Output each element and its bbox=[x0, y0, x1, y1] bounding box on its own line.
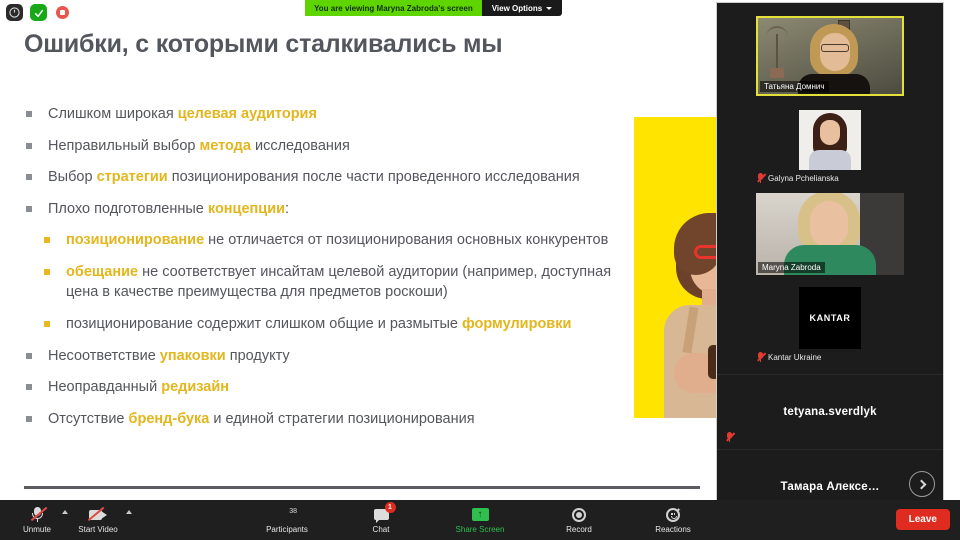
participant-label: Galyna Pchelianska bbox=[717, 173, 943, 183]
bullet-text: Плохо подготовленные концепции: bbox=[48, 199, 289, 220]
meeting-toolbar: Unmute Start Video 38 bbox=[0, 500, 960, 540]
plain-term: Слишком широкая bbox=[48, 106, 178, 122]
reactions-label: Reactions bbox=[655, 525, 691, 534]
participant-tile[interactable]: Maryna Zabroda bbox=[717, 193, 943, 275]
bullet-text: Отсутствие бренд-бука и единой стратегии… bbox=[48, 409, 475, 430]
meeting-info-icon[interactable] bbox=[6, 4, 23, 21]
slide-bullet: Плохо подготовленные концепции: bbox=[26, 199, 626, 220]
plain-term: Выбор bbox=[48, 169, 97, 185]
encryption-shield-icon[interactable] bbox=[30, 4, 47, 21]
bullet-text: позиционирование не отличается от позици… bbox=[66, 230, 608, 251]
bullet-marker-icon bbox=[26, 353, 32, 359]
bullet-text: позиционирование содержит слишком общие … bbox=[66, 314, 571, 335]
reactions-icon: ✦ bbox=[666, 506, 680, 523]
participants-count: 38 bbox=[289, 508, 297, 515]
status-indicators bbox=[6, 4, 71, 21]
slide-bullet: Несоответствие упаковки продукту bbox=[26, 346, 626, 367]
chat-button[interactable]: 1 Chat bbox=[352, 500, 410, 540]
participant-video[interactable]: Maryna Zabroda bbox=[756, 193, 904, 275]
highlighted-term: обещание bbox=[66, 264, 138, 280]
share-screen-icon: ↑ bbox=[472, 506, 489, 523]
participants-button[interactable]: 38 Participants bbox=[258, 500, 316, 540]
plain-term: Несоответствие bbox=[48, 348, 160, 364]
viewing-notice: You are viewing Maryna Zabroda's screen bbox=[305, 0, 482, 16]
plain-term: Неправильный выбор bbox=[48, 138, 199, 154]
highlighted-term: целевая аудитория bbox=[178, 106, 317, 122]
bullet-text: Слишком широкая целевая аудитория bbox=[48, 104, 317, 125]
chevron-down-icon bbox=[546, 7, 552, 10]
highlighted-term: концепции bbox=[208, 201, 285, 217]
slide-bullet: Неправильный выбор метода исследования bbox=[26, 136, 626, 157]
chat-icon: 1 bbox=[374, 506, 389, 523]
bullet-marker-icon bbox=[26, 416, 32, 422]
mic-muted-icon bbox=[757, 173, 764, 183]
slide-photo bbox=[634, 117, 722, 418]
chevron-right-icon bbox=[916, 479, 926, 489]
mic-muted-icon bbox=[726, 432, 733, 442]
record-icon bbox=[572, 506, 586, 523]
kantar-logo: KANTAR bbox=[799, 287, 861, 349]
slide-bullet: Отсутствие бренд-бука и единой стратегии… bbox=[26, 409, 626, 430]
bullet-text: Неоправданный редизайн bbox=[48, 377, 229, 398]
highlighted-term: метода bbox=[199, 138, 250, 154]
chat-unread-badge: 1 bbox=[385, 502, 396, 513]
photo-woman-illustration bbox=[650, 213, 722, 418]
participant-name: Тамара Алексе… bbox=[780, 481, 879, 493]
view-options-button[interactable]: View Options bbox=[482, 0, 563, 16]
highlighted-term: бренд-бука bbox=[129, 411, 210, 427]
slide-bullet: Выбор стратегии позиционирования после ч… bbox=[26, 167, 626, 188]
plain-term: : bbox=[285, 201, 289, 217]
participant-tile[interactable]: KANTAR Kantar Ukraine bbox=[717, 287, 943, 362]
plain-term: не соответствует инсайтам целевой аудито… bbox=[66, 264, 611, 301]
plain-term: Плохо подготовленные bbox=[48, 201, 208, 217]
plain-term: Отсутствие bbox=[48, 411, 129, 427]
bullet-marker-icon bbox=[44, 269, 50, 275]
plain-term: позиционирования после части проведенног… bbox=[168, 169, 580, 185]
bullet-marker-icon bbox=[26, 143, 32, 149]
participant-name: tetyana.sverdlyk bbox=[783, 406, 876, 418]
plain-term: и единой стратегии позиционирования bbox=[209, 411, 474, 427]
view-options-label: View Options bbox=[492, 4, 543, 13]
bullet-marker-icon bbox=[44, 237, 50, 243]
bullet-marker-icon bbox=[44, 321, 50, 327]
participants-icon: 38 bbox=[277, 506, 297, 523]
record-button[interactable]: Record bbox=[550, 500, 608, 540]
participant-video[interactable] bbox=[799, 110, 861, 170]
toolbar-center-group: 38 Participants 1 Chat ↑ Share Screen bbox=[0, 500, 960, 540]
participant-video[interactable]: Татьяна Домнич bbox=[756, 16, 904, 96]
bullet-text: Несоответствие упаковки продукту bbox=[48, 346, 290, 367]
highlighted-term: позиционирование bbox=[66, 232, 204, 248]
chat-label: Chat bbox=[373, 525, 390, 534]
participants-label: Participants bbox=[266, 525, 308, 534]
participant-name: Galyna Pchelianska bbox=[768, 174, 839, 183]
slide-bullet-list: Слишком широкая целевая аудиторияНеправи… bbox=[26, 104, 626, 440]
reactions-button[interactable]: ✦ Reactions bbox=[644, 500, 702, 540]
participant-name: Kantar Ukraine bbox=[768, 353, 821, 362]
highlighted-term: формулировки bbox=[462, 316, 571, 332]
mic-muted-icon bbox=[757, 352, 764, 362]
slide-bullet: Неоправданный редизайн bbox=[26, 377, 626, 398]
participant-label: Kantar Ukraine bbox=[717, 352, 943, 362]
slide-sub-bullet: обещание не соответствует инсайтам целев… bbox=[44, 262, 626, 303]
bullet-text: Неправильный выбор метода исследования bbox=[48, 136, 350, 157]
slide-sub-bullet: позиционирование не отличается от позици… bbox=[44, 230, 626, 251]
slide-divider bbox=[24, 486, 700, 489]
plain-term: не отличается от позиционирования основн… bbox=[204, 232, 608, 248]
highlighted-term: редизайн bbox=[161, 379, 229, 395]
highlighted-term: стратегии bbox=[97, 169, 168, 185]
participant-name: Maryna Zabroda bbox=[758, 262, 825, 273]
plain-term: позиционирование содержит слишком общие … bbox=[66, 316, 462, 332]
recording-indicator-icon[interactable] bbox=[54, 4, 71, 21]
slide-sub-bullet: позиционирование содержит слишком общие … bbox=[44, 314, 626, 335]
participants-video-panel[interactable]: Татьяна Домнич Galyna Pchelianska Maryna… bbox=[716, 2, 944, 512]
bullet-text: обещание не соответствует инсайтам целев… bbox=[66, 262, 626, 303]
participant-tile[interactable]: Galyna Pchelianska bbox=[717, 110, 943, 183]
participant-tile[interactable]: Татьяна Домнич bbox=[717, 16, 943, 96]
next-page-button[interactable] bbox=[909, 471, 935, 497]
plain-term: исследования bbox=[251, 138, 350, 154]
bullet-marker-icon bbox=[26, 384, 32, 390]
highlighted-term: упаковки bbox=[160, 348, 226, 364]
bullet-marker-icon bbox=[26, 174, 32, 180]
slide-bullet: Слишком широкая целевая аудитория bbox=[26, 104, 626, 125]
share-screen-label: Share Screen bbox=[456, 525, 505, 534]
participant-avatar[interactable]: KANTAR bbox=[799, 287, 861, 349]
plain-term: Неоправданный bbox=[48, 379, 161, 395]
zoom-meeting-window: Ошибки, с которыми сталкивались мы Слишк… bbox=[0, 0, 960, 540]
leave-button[interactable]: Leave bbox=[896, 509, 950, 530]
bullet-marker-icon bbox=[26, 111, 32, 117]
screen-share-bar: You are viewing Maryna Zabroda's screen … bbox=[305, 0, 562, 16]
shared-screen-slide: Ошибки, с которыми сталкивались мы Слишк… bbox=[0, 0, 722, 508]
participant-name: Татьяна Домнич bbox=[760, 81, 829, 92]
participant-tile[interactable]: tetyana.sverdlyk bbox=[717, 374, 943, 449]
plain-term: продукту bbox=[226, 348, 290, 364]
share-screen-button[interactable]: ↑ Share Screen bbox=[446, 500, 514, 540]
record-label: Record bbox=[566, 525, 592, 534]
slide-title: Ошибки, с которыми сталкивались мы bbox=[24, 30, 502, 59]
bullet-marker-icon bbox=[26, 206, 32, 212]
bullet-text: Выбор стратегии позиционирования после ч… bbox=[48, 167, 580, 188]
